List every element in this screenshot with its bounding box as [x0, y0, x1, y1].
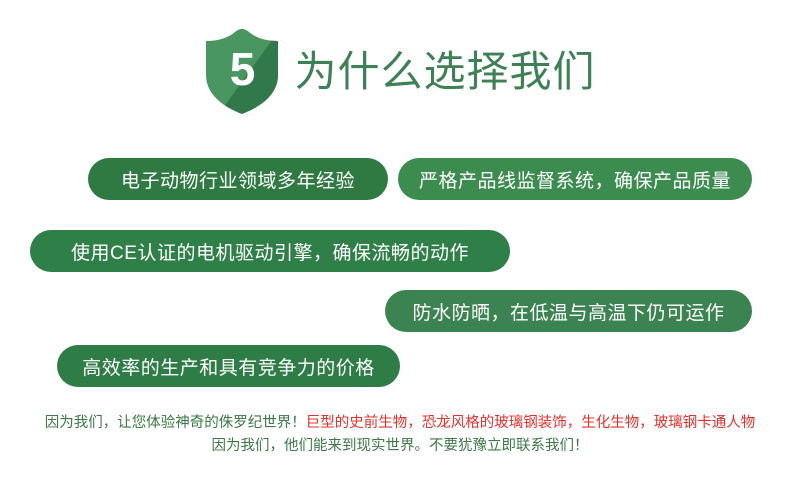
feature-pill-weatherproof: 防水防晒，在低温与高温下仍可运作: [385, 290, 752, 332]
footer-line-1: 因为我们，让您体验神奇的侏罗纪世界！巨型的史前生物，恐龙风格的玻璃钢装饰，生化生…: [0, 412, 800, 435]
footer-line-2: 因为我们，他们能来到现实世界。不要犹豫立即联系我们！: [0, 435, 800, 458]
promo-page: 5 为什么选择我们 电子动物行业领域多年经验 严格产品线监督系统，确保产品质量 …: [0, 0, 800, 485]
footer-paragraph: 因为我们，让您体验神奇的侏罗纪世界！巨型的史前生物，恐龙风格的玻璃钢装饰，生化生…: [0, 412, 800, 458]
shield-badge: 5: [204, 29, 280, 115]
page-header: 5 为什么选择我们: [0, 26, 800, 118]
footer-line-1-lead: 因为我们，让您体验神奇的侏罗纪世界！: [45, 415, 306, 431]
feature-pill-ce-motor: 使用CE认证的电机驱动引擎，确保流畅的动作: [30, 230, 510, 272]
footer-line-1-highlight: 巨型的史前生物，恐龙风格的玻璃钢装饰，生化生物，玻璃钢卡通人物: [306, 415, 756, 431]
feature-pill-quality-control: 严格产品线监督系统，确保产品质量: [398, 158, 752, 200]
badge-number: 5: [204, 29, 280, 115]
feature-pill-efficiency-price: 高效率的生产和具有竞争力的价格: [57, 345, 400, 387]
feature-pill-experience: 电子动物行业领域多年经验: [88, 158, 388, 200]
page-title: 为什么选择我们: [294, 51, 595, 93]
